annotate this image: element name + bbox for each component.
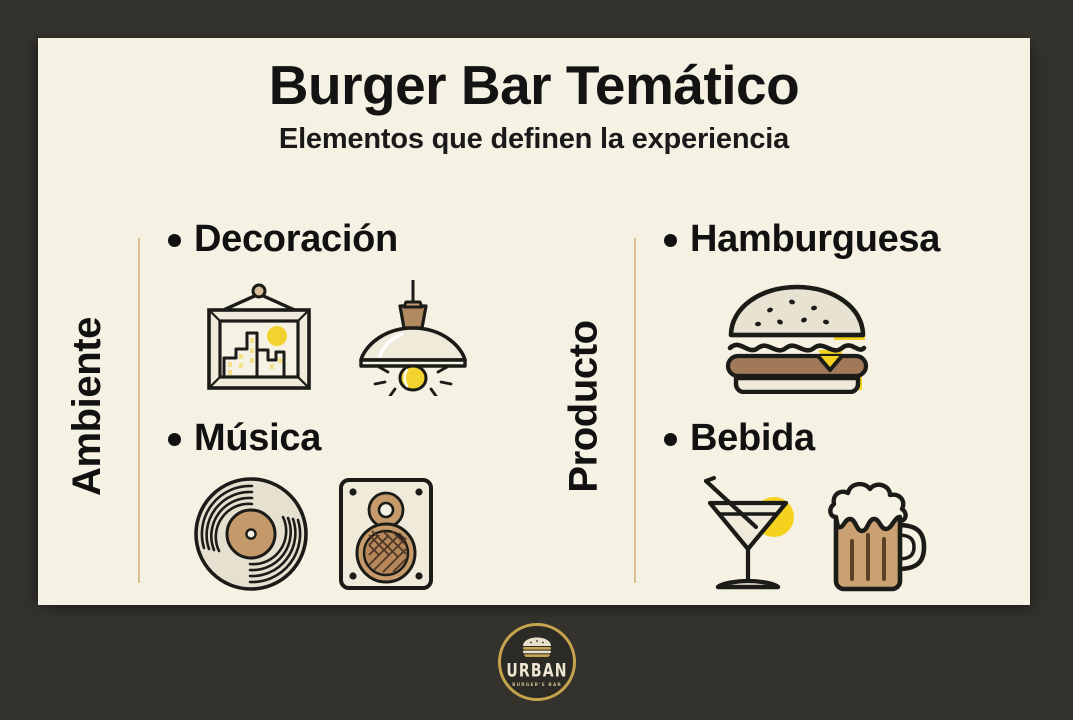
column-body-producto: Hamburguesa xyxy=(636,208,1030,605)
icon-row-bebida xyxy=(664,469,1030,606)
icon-row-musica xyxy=(168,469,534,606)
column-label-producto: Producto xyxy=(534,208,634,605)
group-heading-bebida: Bebida xyxy=(664,407,1030,469)
bullet-icon xyxy=(168,234,181,247)
beer-mug-icon xyxy=(822,473,932,600)
group-label-hamburguesa: Hamburguesa xyxy=(690,220,940,258)
logo-badge: URBAN BURGER'S BAR xyxy=(498,623,576,701)
pendant-lamp-icon xyxy=(352,276,474,401)
hamburger-icon xyxy=(722,278,872,399)
columns-container: Ambiente Decoración xyxy=(38,208,1030,605)
group-bebida: Bebida xyxy=(664,407,1030,606)
column-label-ambiente-text: Ambiente xyxy=(66,317,111,496)
column-label-producto-text: Producto xyxy=(562,320,607,492)
framed-picture-icon xyxy=(192,278,326,399)
group-label-musica: Música xyxy=(194,419,321,457)
group-heading-hamburguesa: Hamburguesa xyxy=(664,208,1030,270)
column-producto: Producto Hamburguesa xyxy=(534,208,1030,605)
bullet-icon xyxy=(664,433,677,446)
group-musica: Música xyxy=(168,407,534,606)
header-block: Burger Bar Temático Elementos que define… xyxy=(38,55,1030,156)
icon-row-decoracion xyxy=(168,270,534,407)
burger-badge-icon xyxy=(520,636,554,663)
bullet-icon xyxy=(664,234,677,247)
speaker-icon xyxy=(336,475,436,598)
group-decoracion: Decoración xyxy=(168,208,534,407)
group-heading-musica: Música xyxy=(168,407,534,469)
icon-row-hamburguesa xyxy=(664,270,1030,407)
slide-card: Burger Bar Temático Elementos que define… xyxy=(38,38,1030,605)
column-ambiente: Ambiente Decoración xyxy=(38,208,534,605)
cocktail-glass-icon xyxy=(692,473,804,600)
group-label-decoracion: Decoración xyxy=(194,220,398,258)
bullet-icon xyxy=(168,433,181,446)
group-heading-decoracion: Decoración xyxy=(168,208,534,270)
logo-wordmark: URBAN xyxy=(506,661,567,680)
group-label-bebida: Bebida xyxy=(690,419,815,457)
logo-tagline: BURGER'S BAR xyxy=(512,684,562,688)
vinyl-record-icon xyxy=(192,475,310,598)
column-label-ambiente: Ambiente xyxy=(38,208,138,605)
page-subtitle: Elementos que definen la experiencia xyxy=(38,123,1030,156)
page-title: Burger Bar Temático xyxy=(38,55,1030,117)
column-body-ambiente: Decoración xyxy=(140,208,534,605)
group-hamburguesa: Hamburguesa xyxy=(664,208,1030,407)
